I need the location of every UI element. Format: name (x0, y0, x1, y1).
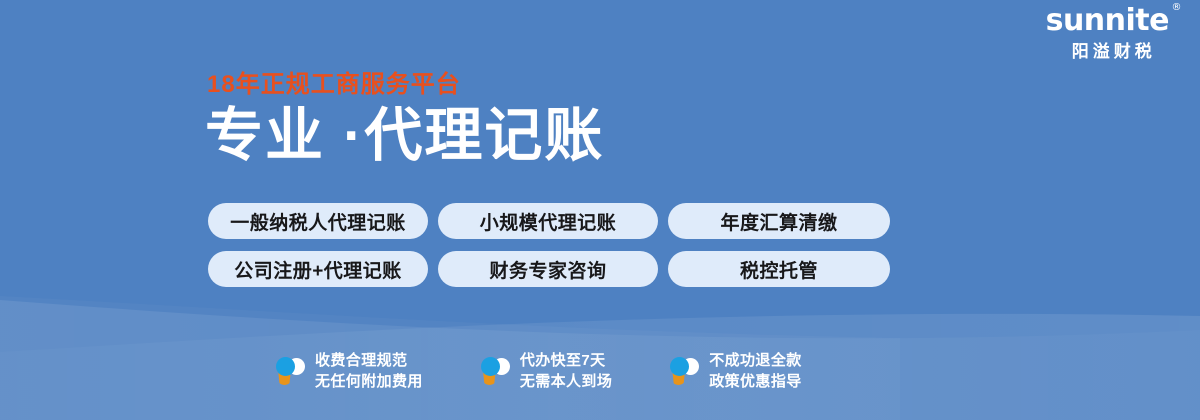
logo-wordmark-text: sunnite (1046, 3, 1169, 38)
feature-item: 代办快至7天 无需本人到场 (481, 350, 612, 393)
feature-text: 收费合理规范 无任何附加费用 (315, 350, 423, 393)
service-tag[interactable]: 税控托管 (668, 251, 890, 287)
feature-line-2: 无需本人到场 (520, 373, 612, 390)
service-tag[interactable]: 一般纳税人代理记账 (208, 203, 428, 239)
feature-line-1: 代办快至7天 (520, 352, 606, 369)
brand-logo[interactable]: sunnite ® 阳溢财税 (1046, 6, 1178, 60)
service-tag[interactable]: 公司注册+代理记账 (208, 251, 428, 287)
feature-line-1: 不成功退全款 (709, 352, 801, 369)
droplet-circle-icon (670, 355, 700, 387)
feature-item: 收费合理规范 无任何附加费用 (276, 350, 423, 393)
logo-wordmark: sunnite ® (1046, 6, 1178, 36)
feature-line-1: 收费合理规范 (315, 352, 407, 369)
logo-chinese-name: 阳溢财税 (1046, 43, 1178, 60)
service-tag-grid: 一般纳税人代理记账 小规模代理记账 年度汇算清缴 公司注册+代理记账 财务专家咨… (208, 203, 890, 287)
droplet-circle-icon (276, 355, 306, 387)
droplet-circle-icon (481, 355, 511, 387)
service-tag[interactable]: 财务专家咨询 (438, 251, 658, 287)
feature-line-2: 无任何附加费用 (315, 373, 423, 390)
service-tag[interactable]: 小规模代理记账 (438, 203, 658, 239)
circle-shape (481, 357, 500, 376)
page-title: 专业 ·代理记账 (205, 106, 604, 167)
feature-text: 不成功退全款 政策优惠指导 (709, 350, 801, 393)
feature-text: 代办快至7天 无需本人到场 (520, 350, 612, 393)
eyebrow-text: 18年正规工商服务平台 (207, 72, 604, 98)
feature-strip: 收费合理规范 无任何附加费用 代办快至7天 无需本人到场 不成功退全款 (276, 350, 802, 393)
promotional-banner: sunnite ® 阳溢财税 18年正规工商服务平台 专业 ·代理记账 一般纳税… (0, 0, 1200, 420)
headline-block: 18年正规工商服务平台 专业 ·代理记账 (205, 72, 604, 167)
service-tag[interactable]: 年度汇算清缴 (668, 203, 890, 239)
feature-item: 不成功退全款 政策优惠指导 (670, 350, 801, 393)
registered-trademark-icon: ® (1172, 3, 1182, 13)
feature-line-2: 政策优惠指导 (709, 373, 801, 390)
